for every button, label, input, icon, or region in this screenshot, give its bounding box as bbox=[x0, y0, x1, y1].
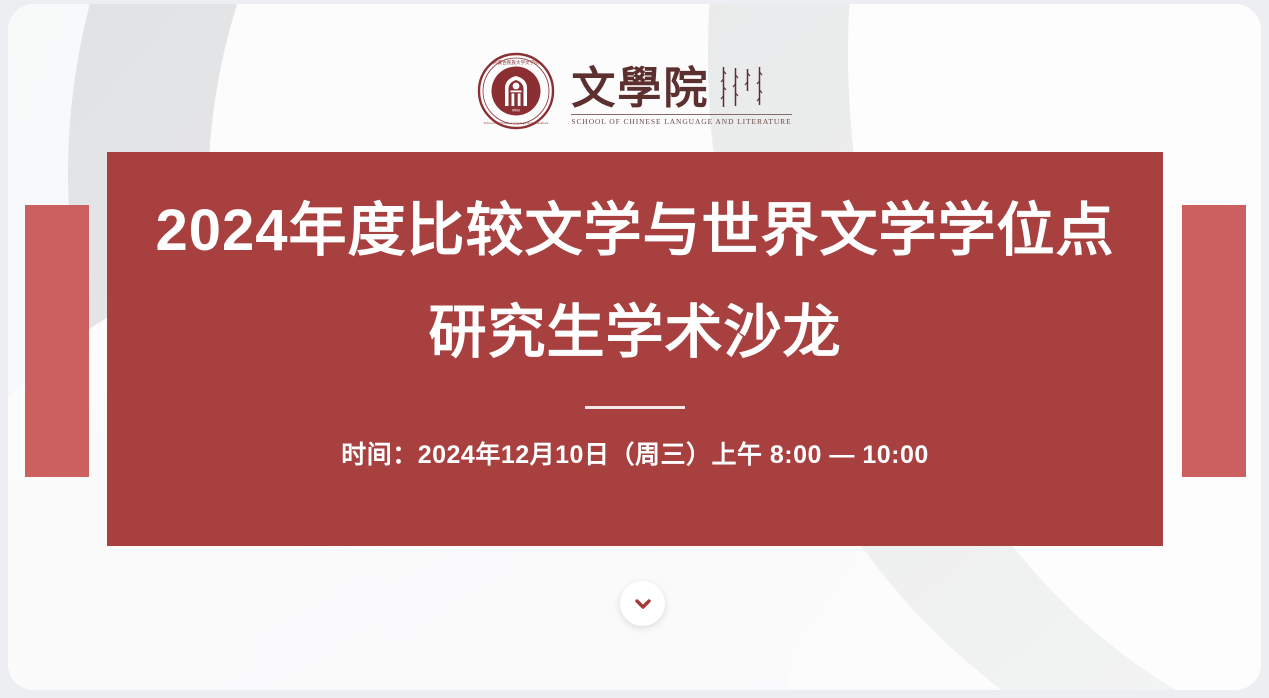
school-name-glyphs: 文學院 bbox=[571, 59, 763, 111]
school-name-cjk: 文學院 bbox=[571, 67, 709, 111]
svg-text:School of Chinese Language and: School of Chinese Language and Literatur… bbox=[484, 121, 549, 125]
svg-text:内蒙古民族大学文学院: 内蒙古民族大学文学院 bbox=[493, 59, 539, 66]
school-name-mongolian-icon bbox=[720, 65, 763, 109]
poster-page: 内蒙古民族大学文学院 IMNU School of Chinese Langua… bbox=[0, 0, 1269, 698]
accent-bar-right bbox=[1182, 205, 1246, 477]
university-seal-icon: 内蒙古民族大学文学院 IMNU School of Chinese Langua… bbox=[477, 52, 555, 130]
poster-card: 内蒙古民族大学文学院 IMNU School of Chinese Langua… bbox=[8, 4, 1261, 690]
title-divider bbox=[585, 406, 685, 409]
poster-title-line-1: 2024年度比较文学与世界文学学位点 bbox=[155, 202, 1114, 260]
accent-bar-left bbox=[25, 205, 89, 477]
school-name-en: SCHOOL OF CHINESE LANGUAGE AND LITERATUR… bbox=[571, 117, 791, 126]
wordmark-divider bbox=[571, 114, 791, 115]
svg-text:IMNU: IMNU bbox=[512, 109, 520, 113]
poster-title-line-2: 研究生学术沙龙 bbox=[428, 304, 841, 362]
title-band: 2024年度比较文学与世界文学学位点 研究生学术沙龙 时间：2024年12月10… bbox=[107, 152, 1163, 546]
chevron-down-icon bbox=[632, 593, 654, 615]
school-wordmark: 文學院 bbox=[571, 59, 791, 126]
poster-datetime: 时间：2024年12月10日（周三）上午 8:00 — 10:00 bbox=[341, 435, 929, 471]
scroll-down-button[interactable] bbox=[620, 581, 665, 626]
school-logo: 内蒙古民族大学文学院 IMNU School of Chinese Langua… bbox=[8, 52, 1261, 130]
